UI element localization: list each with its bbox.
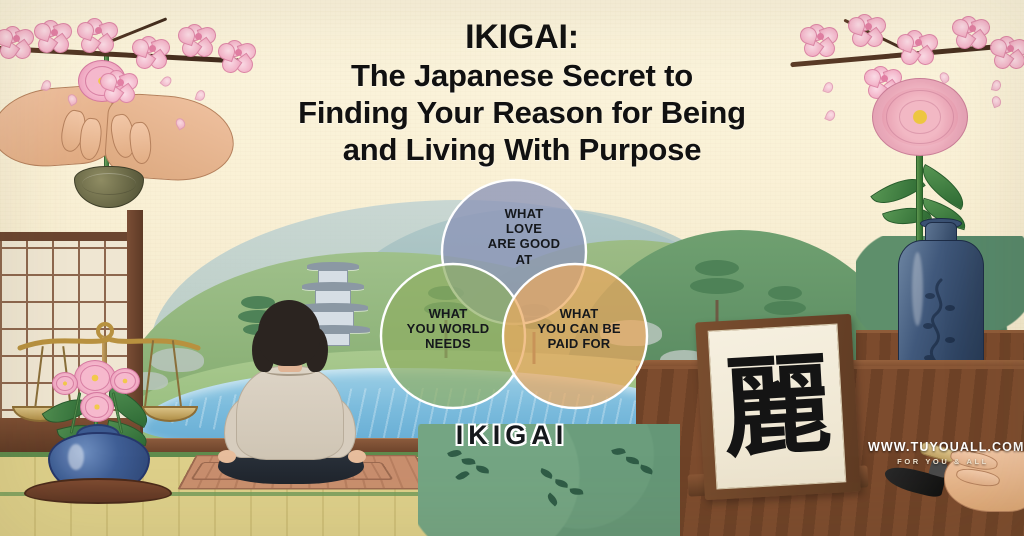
venn-label-top-line-2: LOVE xyxy=(464,221,584,236)
peony-flower xyxy=(872,78,968,156)
meditating-woman xyxy=(212,300,372,482)
title-line-2: The Japanese Secret to xyxy=(232,57,812,94)
ikigai-venn-diagram: WHAT LOVE ARE GOOD AT WHAT YOU WORLD NEE… xyxy=(378,178,650,418)
title-line-3: Finding Your Reason for Being xyxy=(232,94,812,131)
poster-title: IKIGAI: The Japanese Secret to Finding Y… xyxy=(232,18,812,168)
venn-label-top-line-3: ARE GOOD xyxy=(464,236,584,251)
calligraphy-paper: 麗 xyxy=(708,324,847,490)
venn-label-right-line-2: YOU CAN BE xyxy=(518,321,640,336)
kanji-character: 麗 xyxy=(709,325,846,489)
scale-string xyxy=(34,346,43,408)
venn-label-left-line-1: WHAT xyxy=(388,306,508,321)
title-line-1: IKIGAI: xyxy=(232,18,812,57)
venn-label-left-line-2: YOU WORLD xyxy=(388,321,508,336)
watermark-tagline: FOR YOU & ALL xyxy=(868,457,1018,466)
falling-petal xyxy=(160,74,174,88)
cherry-branch-left xyxy=(0,18,260,108)
calligraphy-board: 麗 xyxy=(695,314,861,500)
venn-label-top-line-4: AT xyxy=(464,252,584,267)
head xyxy=(258,300,320,366)
pink-blossom xyxy=(110,368,140,394)
left-hand xyxy=(218,450,236,463)
pink-blossom xyxy=(80,392,114,422)
venn-label-left-line-3: NEEDS xyxy=(388,336,508,351)
title-line-4: and Living With Purpose xyxy=(232,131,812,168)
watermark: WWW.TUYOUALL.COM FOR YOU & ALL xyxy=(868,440,1018,466)
pink-blossom xyxy=(52,372,78,395)
right-hand xyxy=(348,450,366,463)
falling-petal xyxy=(66,93,79,107)
ikigai-poster: 麗 IKIGAI: The Japanese Secret to Finding… xyxy=(0,0,1024,536)
small-ceramic-pot xyxy=(74,166,144,208)
venn-label-top-line-1: WHAT xyxy=(464,206,584,221)
venn-label-right: WHAT YOU CAN BE PAID FOR xyxy=(518,306,640,352)
falling-petal xyxy=(822,81,834,94)
venn-label-left: WHAT YOU WORLD NEEDS xyxy=(388,306,508,352)
falling-petal xyxy=(991,79,1002,92)
falling-petal xyxy=(41,79,53,92)
watermark-domain: WWW.TUYOUALL.COM xyxy=(868,440,1018,454)
venn-label-right-line-1: WHAT xyxy=(518,306,640,321)
wooden-tray xyxy=(24,478,172,504)
venn-label-right-line-3: PAID FOR xyxy=(518,336,640,351)
venn-label-top: WHAT LOVE ARE GOOD AT xyxy=(464,206,584,267)
